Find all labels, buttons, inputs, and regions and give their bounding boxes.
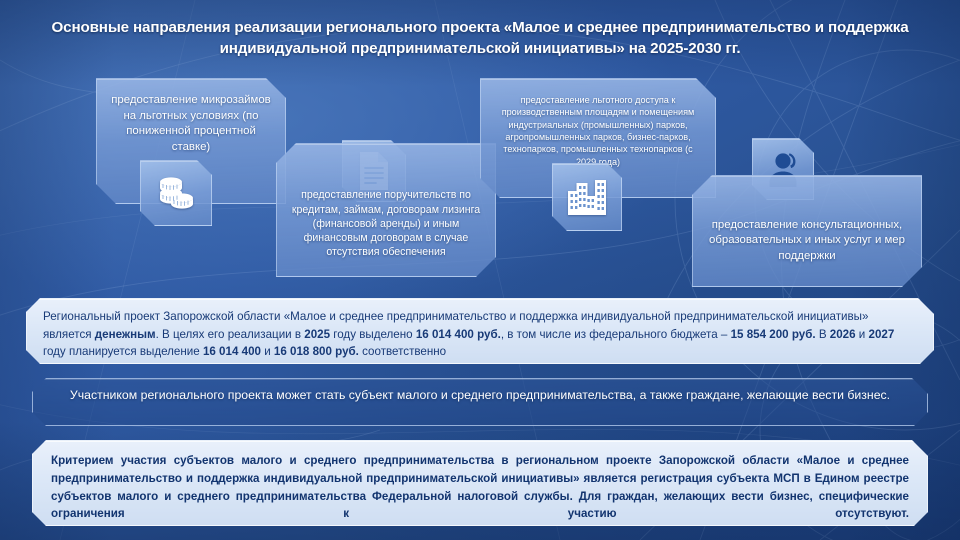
card-consulting-label: предоставление консультационных, образов…: [693, 192, 921, 271]
banner-participants-text: Участником регионального проекта может с…: [33, 379, 927, 405]
card-consulting[interactable]: предоставление консультационных, образов…: [692, 175, 922, 287]
funding-part-7: году планируется выделение: [43, 345, 203, 358]
funding-bold-year-2025: 2025: [304, 328, 330, 341]
banner-participants: Участником регионального проекта может с…: [32, 378, 928, 426]
slide-canvas: Основные направления реализации регионал…: [0, 0, 960, 540]
buildings-icon-tile[interactable]: [552, 163, 622, 231]
card-guarantees[interactable]: предоставление поручительств по кредитам…: [276, 143, 496, 277]
funding-part-3: году выделено: [330, 328, 416, 341]
banner-funding: Региональный проект Запорожской области …: [26, 298, 934, 364]
funding-bold-year-2026: 2026: [830, 328, 856, 341]
funding-part-6: и: [856, 328, 869, 341]
banner-criteria-text: Критерием участия субъектов малого и сре…: [33, 441, 927, 523]
buildings-icon: [565, 177, 609, 217]
funding-bold-year-2027: 2027: [869, 328, 895, 341]
page-title: Основные направления реализации регионал…: [28, 17, 932, 59]
funding-bold-amount-2026: 16 014 400: [203, 345, 261, 358]
funding-bold-amount-2025: 16 014 400 руб.: [416, 328, 501, 341]
card-guarantees-label: предоставление поручительств по кредитам…: [277, 154, 495, 265]
funding-part-5: В: [816, 328, 830, 341]
funding-part-2: . В целях его реализации в: [156, 328, 305, 341]
coins-icon: [155, 174, 197, 212]
funding-part-9: соответственно: [359, 345, 446, 358]
funding-bold-amount-2027: 16 018 800 руб.: [274, 345, 359, 358]
coins-icon-tile[interactable]: [140, 160, 212, 226]
funding-bold-denezhnym: денежным: [95, 328, 156, 341]
funding-part-8: и: [261, 345, 274, 358]
banner-criteria: Критерием участия субъектов малого и сре…: [32, 440, 928, 526]
funding-part-4: , в том числе из федерального бюджета –: [501, 328, 731, 341]
banner-funding-text: Региональный проект Запорожской области …: [27, 299, 933, 361]
funding-bold-amount-federal: 15 854 200 руб.: [731, 328, 816, 341]
